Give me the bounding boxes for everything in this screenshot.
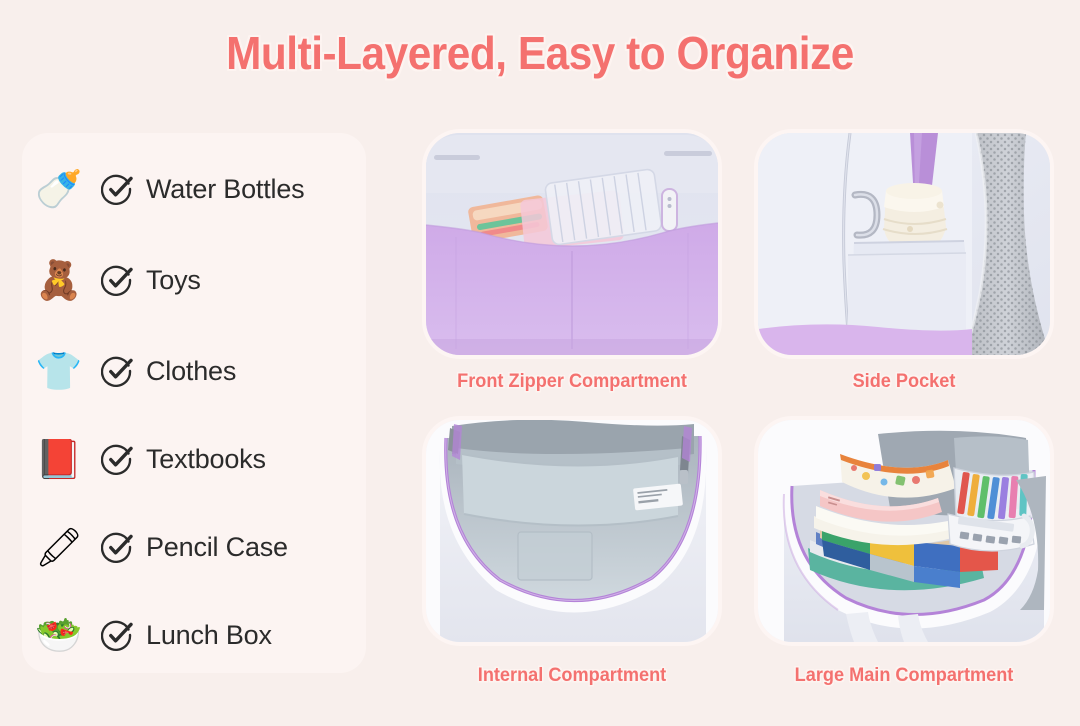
teddy-bear-emoji: 🧸 xyxy=(22,261,96,299)
water-bottle-emoji: 🍼 xyxy=(22,170,96,208)
pencil-case-emoji: 🖍 xyxy=(22,528,96,566)
side-pocket-photo-image xyxy=(758,133,1050,355)
page-title: Multi-Layered, Easy to Organize xyxy=(43,26,1037,80)
book-emoji: 📕 xyxy=(22,440,96,478)
list-item-label: Pencil Case xyxy=(146,532,288,563)
photo-large-main-compartment-caption: Large Main Compartment xyxy=(768,664,1040,687)
list-item-label: Lunch Box xyxy=(146,620,272,651)
front-zipper-photo-image xyxy=(426,133,718,355)
internal-compartment-photo-image xyxy=(426,420,718,642)
list-item: 🖍 Pencil Case xyxy=(22,517,366,577)
promo-page: Multi-Layered, Easy to Organize 🍼 Water … xyxy=(0,0,1080,726)
photo-front-zipper-compartment[interactable] xyxy=(426,133,718,355)
check-circle-icon xyxy=(96,442,140,476)
check-circle-icon xyxy=(96,618,140,652)
list-item: 👕 Clothes xyxy=(22,341,366,401)
list-item: 🥗 Lunch Box xyxy=(22,605,366,665)
list-item: 🧸 Toys xyxy=(22,250,366,310)
list-item: 🍼 Water Bottles xyxy=(22,159,366,219)
photo-front-zipper-caption: Front Zipper Compartment xyxy=(436,370,708,393)
check-circle-icon xyxy=(96,172,140,206)
list-item-label: Clothes xyxy=(146,356,236,387)
large-main-compartment-photo-image xyxy=(758,420,1050,642)
list-item-label: Textbooks xyxy=(146,444,266,475)
photo-internal-compartment[interactable] xyxy=(426,420,718,642)
list-item-label: Toys xyxy=(146,265,201,296)
check-circle-icon xyxy=(96,530,140,564)
list-item: 📕 Textbooks xyxy=(22,429,366,489)
lunch-box-emoji: 🥗 xyxy=(22,616,96,654)
check-circle-icon xyxy=(96,354,140,388)
check-circle-icon xyxy=(96,263,140,297)
photo-side-pocket-caption: Side Pocket xyxy=(768,370,1040,393)
photo-large-main-compartment[interactable] xyxy=(758,420,1050,642)
list-item-label: Water Bottles xyxy=(146,174,304,205)
photo-side-pocket[interactable] xyxy=(758,133,1050,355)
tshirt-emoji: 👕 xyxy=(22,352,96,390)
photo-internal-compartment-caption: Internal Compartment xyxy=(436,664,708,687)
checklist-card: 🍼 Water Bottles 🧸 Toys 👕 xyxy=(22,133,366,673)
